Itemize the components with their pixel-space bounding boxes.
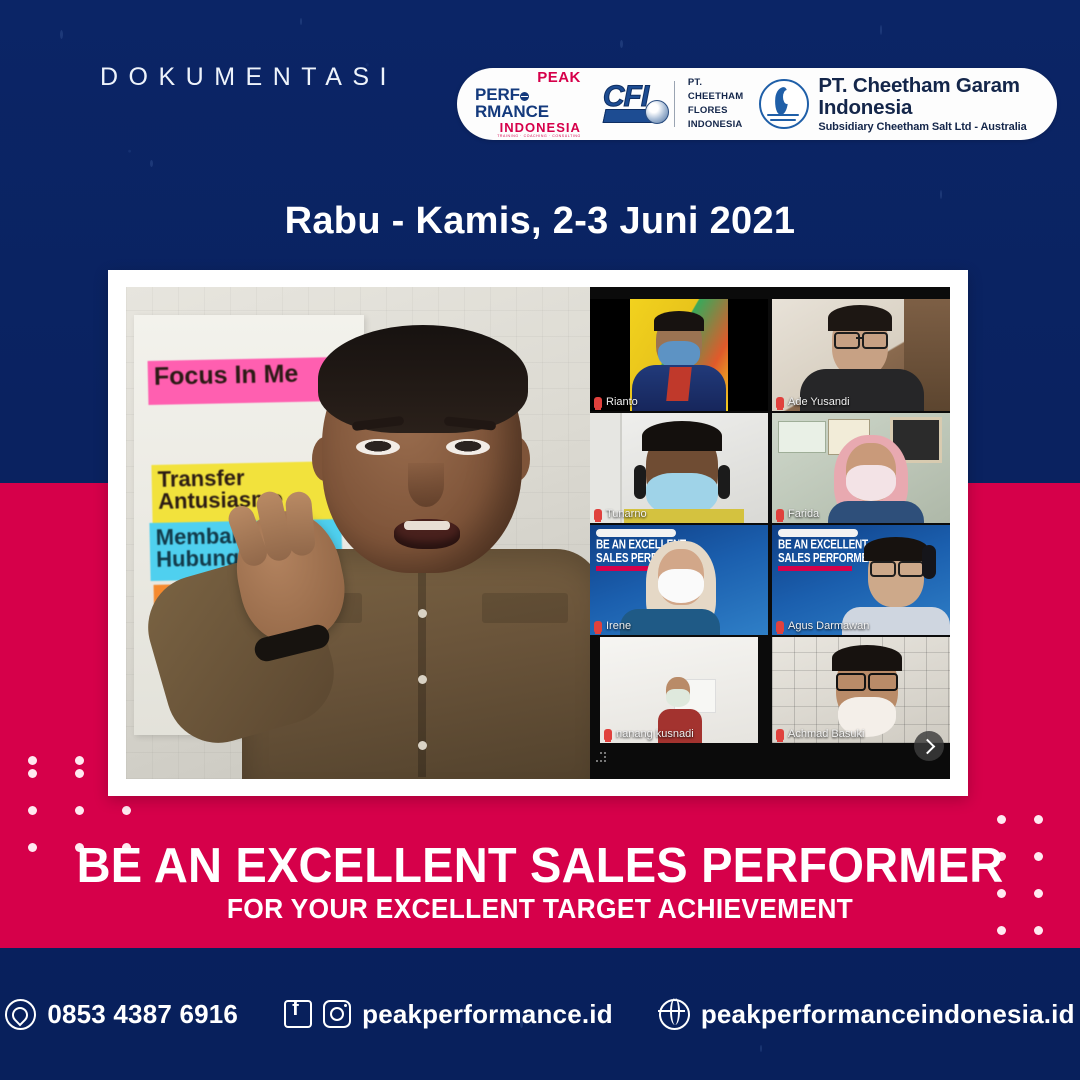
shirt-button	[418, 675, 427, 684]
speaker-video-panel: Focus In Me Transfer Antusiasme Membangu…	[126, 287, 590, 779]
headline-main: BE AN EXCELLENT SALES PERFORMER	[22, 838, 1059, 894]
eyeglasses	[868, 673, 898, 691]
shirt-button	[418, 609, 427, 618]
participant-tile[interactable]: nanang kusnadi	[600, 637, 758, 743]
logo-divider	[674, 81, 675, 127]
eyeglasses	[836, 673, 866, 691]
face-mask	[846, 465, 896, 501]
participant-tile[interactable]: BE AN EXCELLENTSALES PERFORMER Agus Darm…	[772, 525, 950, 635]
cfi-globe-icon	[645, 100, 669, 124]
speaker-hair	[318, 325, 528, 433]
zoom-participant-grid: Rianto Ade Yusandi	[590, 287, 950, 779]
logo-peak-performance: PEAK PERFRMANCE INDONESIA TRAINING · COA…	[475, 70, 581, 139]
logo-cfi: CFI PT. CHEETHAM FLORES INDONESIA	[603, 76, 743, 131]
shirt-pocket	[482, 593, 568, 623]
bg-speck	[150, 160, 153, 167]
logo-peak-line2: PERFRMANCE	[475, 86, 581, 120]
eyeglasses	[834, 332, 860, 349]
social-handle: peakperformance.id	[362, 999, 613, 1030]
cfi-sub-line: FLORES	[688, 104, 743, 118]
mic-muted-icon	[776, 621, 784, 632]
logo-peak-line3: INDONESIA	[500, 121, 581, 134]
participant-name: nanang kusnadi	[604, 728, 694, 740]
page-kicker: DOKUMENTASI	[100, 63, 397, 92]
participant-name: Achmad Basuki	[776, 728, 864, 740]
logo-peak-tagline: TRAINING · COACHING · CONSULTING	[497, 135, 581, 139]
facebook-icon	[284, 1000, 312, 1028]
logo-peak-line1: PEAK	[537, 70, 581, 85]
participant-name: Farida	[776, 508, 819, 520]
wave-line-shape	[770, 119, 796, 121]
participant-name: Agus Darmawan	[776, 620, 869, 632]
shirt-button	[418, 741, 427, 750]
cfi-sub-line: CHEETHAM	[688, 90, 743, 104]
mic-muted-icon	[776, 729, 784, 740]
nose	[408, 463, 444, 507]
eyeglasses	[898, 561, 924, 577]
seahorse-icon	[759, 79, 809, 129]
instagram-icon	[323, 1000, 351, 1028]
chevron-right-icon	[920, 738, 936, 754]
headline-sub: FOR YOUR EXCELLENT TARGET ACHIEVEMENT	[22, 893, 1059, 925]
bg-speck	[940, 190, 942, 199]
participant-name: Rianto	[594, 396, 638, 408]
mic-muted-icon	[776, 397, 784, 408]
logo-peak-line2b: RMANCE	[475, 102, 549, 121]
participant-tile[interactable]: Ade Yusandi	[772, 299, 950, 411]
sticky-note: Focus In Me	[148, 357, 339, 405]
bg-speck	[880, 25, 882, 35]
zoom-toolbar-strip	[778, 529, 858, 537]
mic-muted-icon	[776, 509, 784, 520]
participant-name: Irene	[594, 620, 631, 632]
mic-muted-icon	[594, 509, 602, 520]
eye	[356, 439, 400, 455]
meeting-photo: Focus In Me Transfer Antusiasme Membangu…	[126, 287, 950, 779]
website-url: peakperformanceindonesia.id	[701, 999, 1075, 1030]
eyeglasses	[870, 561, 896, 577]
eye	[446, 439, 490, 455]
mic-muted-icon	[594, 397, 602, 408]
participant-name: Tunarno	[594, 508, 647, 520]
logo-cheetham-garam: PT. Cheetham Garam Indonesia Subsidiary …	[759, 75, 1057, 132]
mouth	[394, 519, 460, 549]
participant-tile[interactable]: Farida	[772, 413, 950, 523]
contact-whatsapp[interactable]: 0853 4387 6916	[5, 999, 238, 1030]
face-mask	[658, 569, 704, 603]
whatsapp-icon	[5, 999, 36, 1030]
cfi-sub-line: INDONESIA	[688, 118, 743, 132]
whatsapp-number: 0853 4387 6916	[47, 999, 238, 1030]
contact-footer: 0853 4387 6916 peakperformance.id peakpe…	[0, 948, 1080, 1080]
partner-logo-bar: PEAK PERFRMANCE INDONESIA TRAINING · COA…	[457, 68, 1057, 140]
wave-line-shape	[767, 114, 799, 116]
virtual-bg-text: BE AN EXCELLENTSALES PERFORMER	[778, 538, 875, 566]
cgi-subtitle: Subsidiary Cheetham Salt Ltd - Australia	[818, 121, 1057, 133]
resize-handle[interactable]	[596, 752, 608, 764]
seahorse-cut-shape	[783, 90, 791, 104]
participant-tile[interactable]: Tunarno	[590, 413, 768, 523]
bg-speck	[300, 18, 302, 25]
cfi-sub-line: PT.	[688, 76, 743, 90]
face-mask	[666, 689, 690, 707]
eyeglasses	[862, 332, 888, 349]
poster-canvas: DOKUMENTASI PEAK PERFRMANCE INDONESIA TR…	[0, 0, 1080, 1080]
mic-muted-icon	[604, 729, 612, 740]
mic-muted-icon	[594, 621, 602, 632]
virtual-bg-underline	[778, 566, 852, 571]
cfi-subtitle: PT. CHEETHAM FLORES INDONESIA	[688, 76, 743, 131]
next-page-button[interactable]	[914, 731, 944, 761]
contact-social[interactable]: peakperformance.id	[284, 999, 613, 1030]
participant-tile[interactable]: Rianto	[590, 299, 768, 411]
photo-frame: Focus In Me Transfer Antusiasme Membangu…	[108, 270, 968, 796]
participant-name: Ade Yusandi	[776, 396, 850, 408]
bg-speck	[620, 40, 623, 48]
participant-tile[interactable]: Achmad Basuki	[772, 637, 950, 743]
cfi-mark-icon: CFI	[603, 82, 665, 126]
cgi-title: PT. Cheetham Garam Indonesia	[818, 75, 1057, 118]
globe-dot-icon	[520, 92, 529, 101]
contact-website[interactable]: peakperformanceindonesia.id	[659, 999, 1075, 1030]
bg-speck	[60, 30, 63, 39]
participant-tile[interactable]: BE AN EXCELLENTSALES PERFORMER Irene	[590, 525, 768, 635]
globe-icon	[659, 999, 690, 1030]
event-date-title: Rabu - Kamis, 2-3 Juni 2021	[0, 200, 1080, 243]
zoom-toolbar-strip	[596, 529, 676, 537]
